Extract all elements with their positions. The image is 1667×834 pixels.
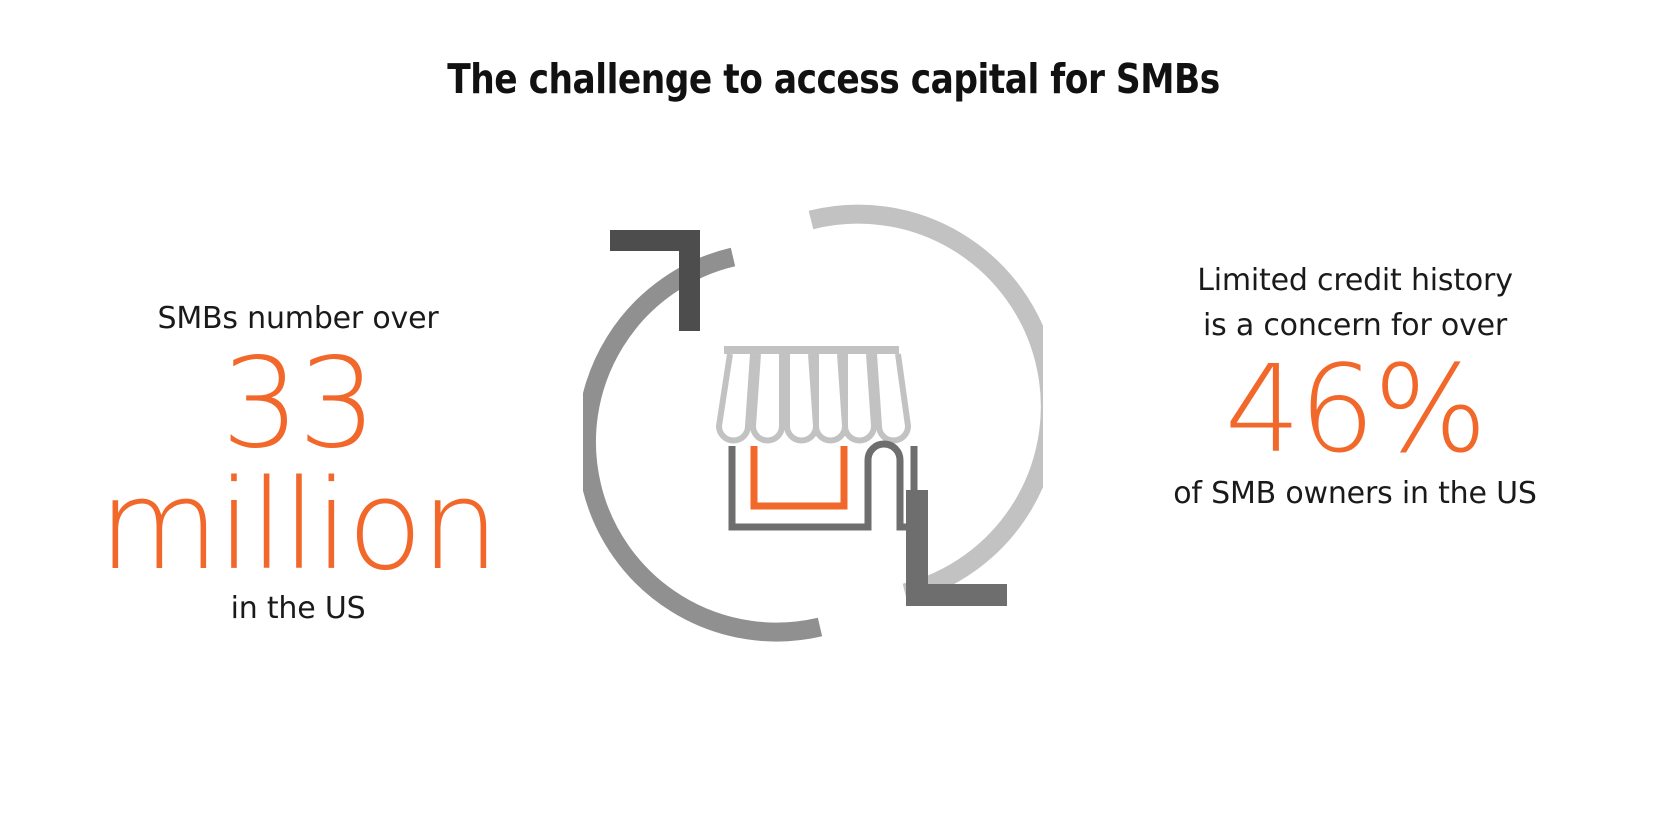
page-title: The challenge to access capital for SMBs [133,55,1533,103]
stat-block-left: SMBs number over 33 million in the US [8,296,588,629]
arc-left [586,257,820,632]
store-window-orange [754,446,844,506]
stat-right-figure: 46% [1055,350,1655,472]
stat-right-caption-bottom: of SMB owners in the US [1055,474,1655,514]
infographic-canvas: The challenge to access capital for SMBs… [0,0,1667,834]
stat-block-right: Limited credit history is a concern for … [1055,258,1655,514]
storefront-refresh-cycle-icon [583,200,1043,645]
stat-left-caption-bottom: in the US [8,589,588,629]
storefront-glyph [719,346,914,527]
awning-top-bar [724,346,899,354]
store-base [732,444,914,527]
stat-right-caption-top-line1: Limited credit history [1055,258,1655,303]
awning-panels [719,354,908,441]
stat-left-figure: 33 million [8,343,588,587]
